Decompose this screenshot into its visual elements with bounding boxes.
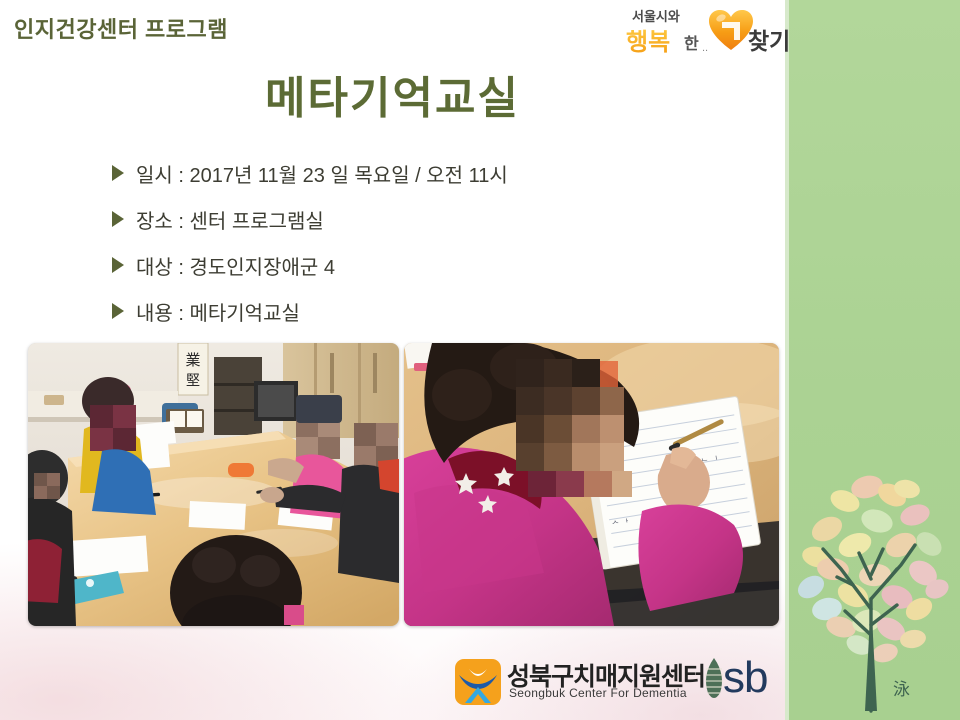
page-title: 인지건강센터 프로그램 [14, 12, 228, 44]
seoul-logo-line3: 찾기 [748, 22, 790, 56]
tree-signature: 泳 [893, 680, 910, 699]
bullet-item-date: 일시 : 2017년 11월 23 일 목요일 / 오전 11시 [112, 150, 732, 196]
seongbuk-logo-mark-icon [455, 659, 501, 705]
bullet-item-label: 일시 : 2017년 11월 23 일 목요일 / 오전 11시 [136, 159, 508, 188]
footer-logo-english: Seongbuk Center For Dementia [509, 686, 687, 700]
seoul-logo-line2: 행복 [626, 22, 670, 57]
svg-text:堅: 堅 [186, 373, 200, 389]
seoul-happy-logo: 서울시와 행복 한 .. 찾기 [624, 4, 784, 56]
bullet-item-content: 내용 : 메타기억교실 [112, 288, 732, 334]
group-activity-photo: 業 堅 [28, 343, 399, 626]
tree-illustration-icon: 泳 [797, 449, 957, 714]
footer-logo-sb-mark: sb [723, 653, 767, 703]
bullet-item-label: 장소 : 센터 프로그램실 [136, 205, 324, 234]
bullet-item-location: 장소 : 센터 프로그램실 [112, 196, 732, 242]
seoul-logo-han: 한 [684, 30, 699, 54]
bullet-item-label: 대상 : 경도인지장애군 4 [136, 251, 335, 280]
slide-main-title: 메타기억교실 [0, 62, 785, 126]
writing-participant-photo: ᄀ ᅳ ᄂ ᅵ ᄉ ᅡ [404, 343, 779, 626]
bullet-item-target: 대상 : 경도인지장애군 4 [112, 242, 732, 288]
bullet-list: 일시 : 2017년 11월 23 일 목요일 / 오전 11시 장소 : 센터… [112, 150, 732, 334]
triangle-bullet-icon [112, 257, 124, 273]
footer-logo: 성북구치매지원센터 Seongbuk Center For Dementia s… [455, 655, 775, 713]
side-panel: 泳 [785, 0, 960, 720]
slide-canvas: 泳 인지건강센터 프로그램 서울시와 행복 한 .. [0, 0, 960, 720]
triangle-bullet-icon [112, 211, 124, 227]
triangle-bullet-icon [112, 165, 124, 181]
bullet-item-label: 내용 : 메타기억교실 [136, 297, 300, 326]
svg-text:業: 業 [185, 352, 200, 369]
triangle-bullet-icon [112, 303, 124, 319]
